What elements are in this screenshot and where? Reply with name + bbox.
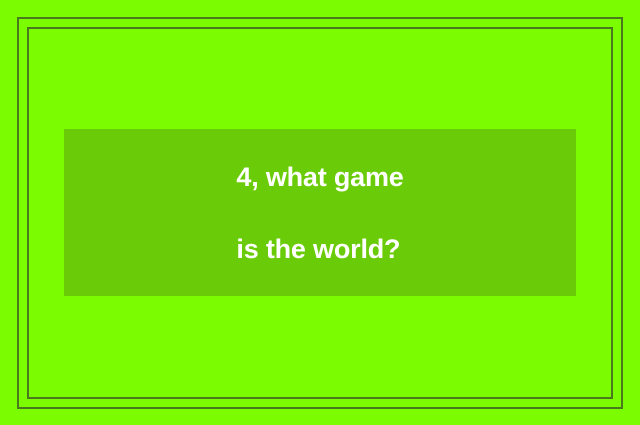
caption-line-1: 4, what game <box>236 159 403 195</box>
quote-card: 4, what game is the world? <box>0 0 640 425</box>
caption-panel: 4, what game is the world? <box>64 129 576 296</box>
caption-line-2: is the world? <box>236 231 403 267</box>
caption-text-block: 4, what game is the world? <box>236 123 403 303</box>
